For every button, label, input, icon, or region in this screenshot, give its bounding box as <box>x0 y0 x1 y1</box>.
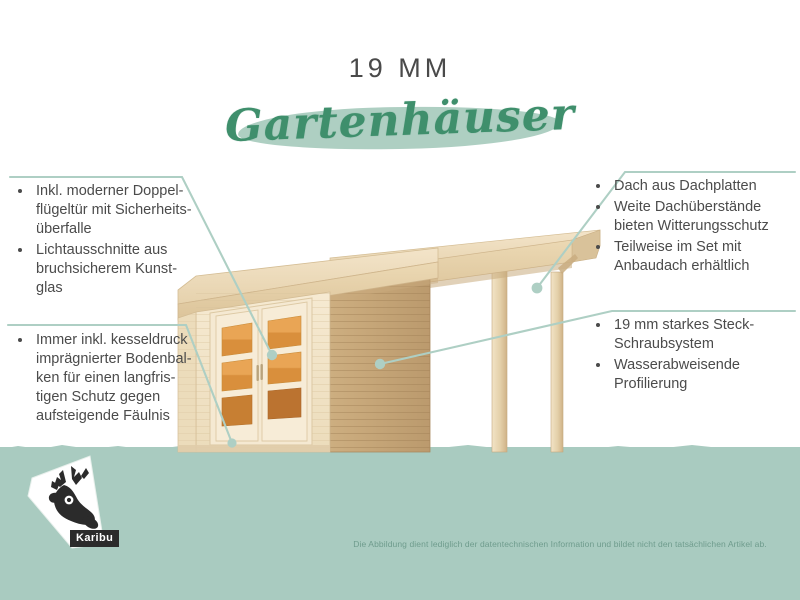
leader-dot-wall <box>375 359 385 369</box>
callout-right-bottom-list: 19 mm starkes Steck- Schraubsystem Wasse… <box>592 316 792 394</box>
list-item: 19 mm starkes Steck- Schraubsystem <box>592 316 792 354</box>
callout-line: tigen Schutz gegen <box>36 389 160 405</box>
list-item: Teilweise im Set mit Anbaudach erhältlic… <box>592 238 792 276</box>
callout-right-top: Dach aus Dachplatten Weite Dachüberständ… <box>592 177 792 278</box>
callout-line: bruchsicherem Kunst- <box>36 261 177 277</box>
list-item: Lichtausschnitte aus bruchsicherem Kunst… <box>14 241 204 298</box>
callout-left-bottom: Immer inkl. kesseldruck imprägnierter Bo… <box>14 331 204 428</box>
callout-line: Teilweise im Set mit <box>614 239 741 255</box>
callout-line: flügeltür mit Sicherheits- <box>36 202 192 218</box>
callout-left-top-list: Inkl. moderner Doppel- flügeltür mit Sic… <box>14 182 204 298</box>
callout-line: Inkl. moderner Doppel- <box>36 183 184 199</box>
list-item: Immer inkl. kesseldruck imprägnierter Bo… <box>14 331 204 426</box>
brand-logo: Karibu <box>26 452 122 556</box>
list-item: Wasserabweisende Profilierung <box>592 356 792 394</box>
callout-line: bieten Witterungsschutz <box>614 218 769 234</box>
callout-line: Lichtausschnitte aus <box>36 242 167 258</box>
callout-line: Anbaudach erhältlich <box>614 258 749 274</box>
callout-line: Profilierung <box>614 376 687 392</box>
leader-dot-door <box>267 350 277 360</box>
callout-line: Immer inkl. kesseldruck <box>36 332 187 348</box>
callout-line: 19 mm starkes Steck- <box>614 317 754 333</box>
callout-line: überfalle <box>36 221 92 237</box>
callout-line: Dach aus Dachplatten <box>614 178 757 194</box>
callout-left-top: Inkl. moderner Doppel- flügeltür mit Sic… <box>14 182 204 300</box>
callout-line: glas <box>36 280 63 296</box>
callout-left-bottom-list: Immer inkl. kesseldruck imprägnierter Bo… <box>14 331 204 426</box>
disclaimer-text: Die Abbildung dient lediglich der datent… <box>330 538 790 550</box>
leader-dot-roof <box>532 283 543 294</box>
callout-line: Weite Dachüberstände <box>614 199 761 215</box>
list-item: Dach aus Dachplatten <box>592 177 792 196</box>
callout-line: imprägnierter Bodenbal- <box>36 351 192 367</box>
callout-right-top-list: Dach aus Dachplatten Weite Dachüberständ… <box>592 177 792 276</box>
callout-line: Wasserabweisende <box>614 357 740 373</box>
callout-line: ken für einen langfris- <box>36 370 175 386</box>
list-item: Weite Dachüberstände bieten Witterungssc… <box>592 198 792 236</box>
callout-line: Schraubsystem <box>614 336 714 352</box>
callout-right-bottom: 19 mm starkes Steck- Schraubsystem Wasse… <box>592 316 792 396</box>
infographic-canvas: 19 MM Gartenhäuser <box>0 0 800 600</box>
list-item: Inkl. moderner Doppel- flügeltür mit Sic… <box>14 182 204 239</box>
callout-line: aufsteigende Fäulnis <box>36 408 170 424</box>
leader-dot-base <box>227 438 236 447</box>
brand-name: Karibu <box>70 530 119 547</box>
